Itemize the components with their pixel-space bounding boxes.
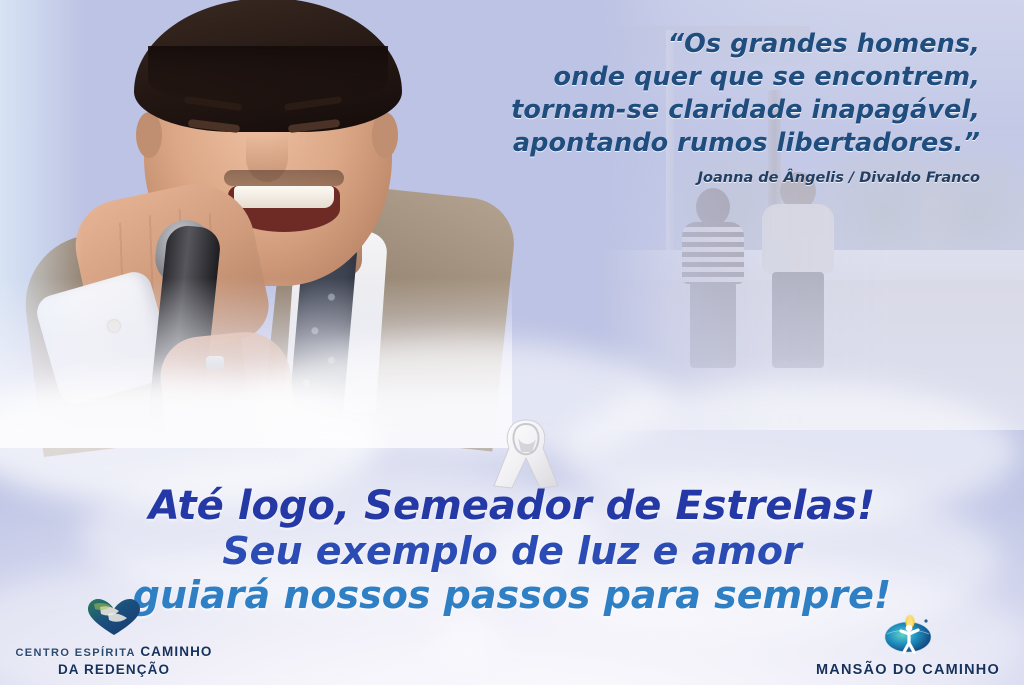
quote-line-1: “Os grandes homens,	[420, 28, 980, 61]
heart-hands-icon	[14, 598, 214, 641]
mourning-ribbon-icon	[488, 408, 564, 492]
headline-line-1: Até logo, Semeador de Estrelas!	[0, 484, 1024, 529]
logo-centro-espirita: CENTRO ESPÍRITA CAMINHO DA REDENÇÃO	[14, 598, 214, 679]
quote-text: “Os grandes homens, onde quer que se enc…	[420, 28, 980, 160]
memorial-poster: “Os grandes homens, onde quer que se enc…	[0, 0, 1024, 685]
logo-right-line-2: MANSÃO DO CAMINHO	[816, 662, 1000, 678]
quote-line-2: onde quer que se encontrem,	[420, 61, 980, 94]
quote-line-4: apontando rumos libertadores.”	[420, 127, 980, 160]
quote-line-3: tornam-se claridade inapagável,	[420, 94, 980, 127]
portrait-photo	[12, 0, 482, 434]
headline-line-2: Seu exemplo de luz e amor	[0, 529, 1024, 573]
globe-figure-torch-icon	[802, 612, 1014, 659]
logo-left-line-1: CENTRO ESPÍRITA	[15, 647, 135, 659]
quote-attribution: Joanna de Ângelis / Divaldo Franco	[420, 170, 980, 186]
logo-mansao-do-caminho: MANSÃO DO CAMINHO	[802, 612, 1014, 679]
